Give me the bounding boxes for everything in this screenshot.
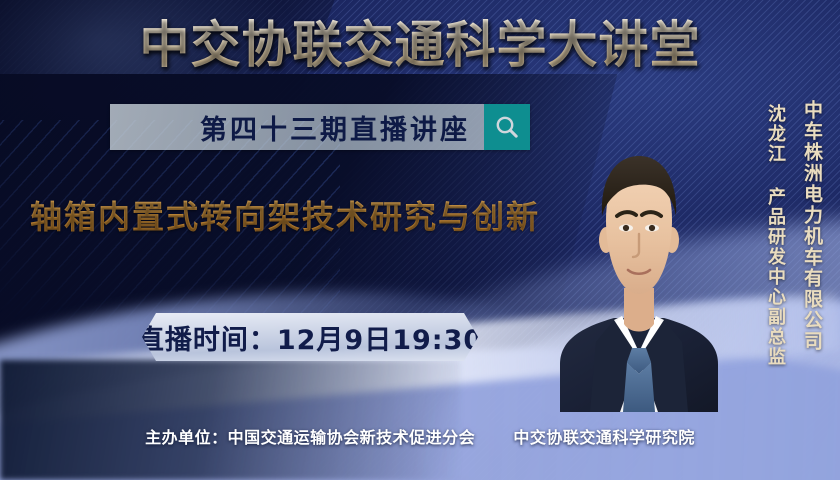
episode-label: 第四十三期直播讲座 [110, 104, 484, 150]
speaker-name-title: 沈龙江 产品研发中心副总监 [762, 104, 788, 367]
banner-title: 中交协联交通科学大讲堂 [0, 16, 840, 74]
search-icon[interactable] [484, 104, 530, 150]
speaker-company: 中车株洲电力机车有限公司 [799, 100, 826, 352]
background-bottom-shadow [0, 360, 460, 480]
episode-bar: 第四十三期直播讲座 [110, 104, 530, 150]
footer: 主办单位：中国交通运输协会新技术促进分会 中交协联交通科学研究院 [0, 424, 840, 448]
broadcast-time-label: 直播时间：12月9日19:30 [137, 318, 483, 357]
lecture-topic: 轴箱内置式转向架技术研究与创新 [30, 196, 540, 238]
speaker-portrait [556, 112, 722, 412]
broadcast-time-pill: 直播时间：12月9日19:30 [142, 313, 478, 361]
footer-organizer: 主办单位：中国交通运输协会新技术促进分会 [145, 428, 475, 447]
footer-institute: 中交协联交通科学研究院 [513, 428, 695, 447]
lecture-promo-banner: 中交协联交通科学大讲堂 中交协联交通科学大讲堂 第四十三期直播讲座 轴箱内置式转… [0, 0, 840, 480]
